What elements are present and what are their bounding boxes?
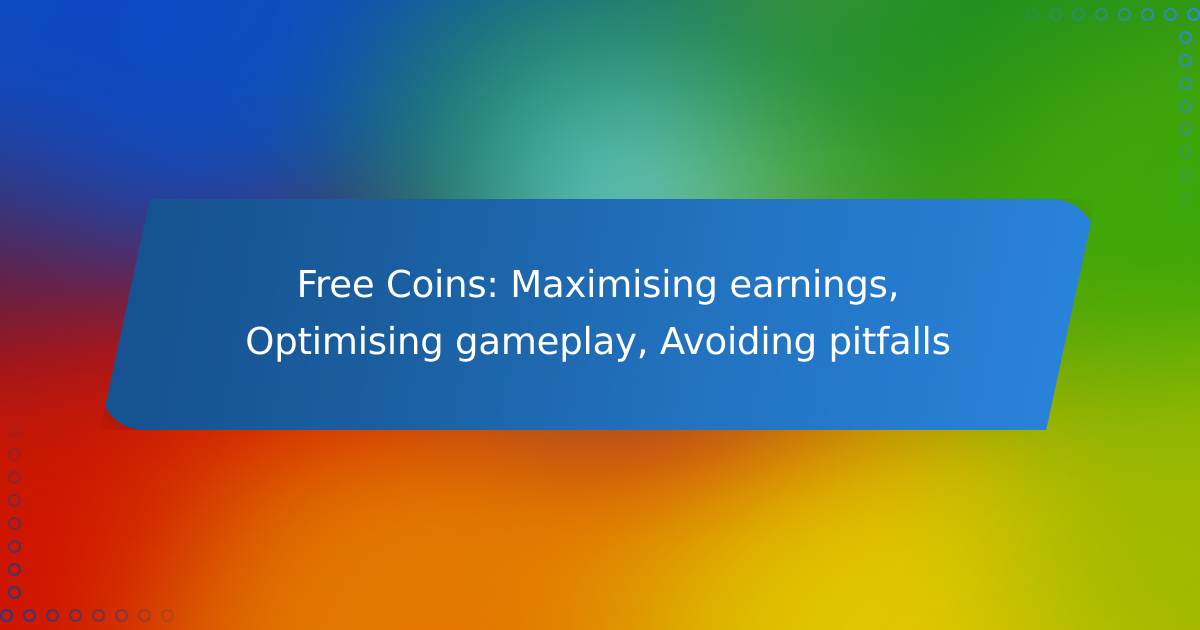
title-card: Free Coins: Maximising earnings, Optimis… [100,199,1096,430]
page-title: Free Coins: Maximising earnings, Optimis… [198,257,998,371]
share-card-canvas: Free Coins: Maximising earnings, Optimis… [0,0,1200,630]
